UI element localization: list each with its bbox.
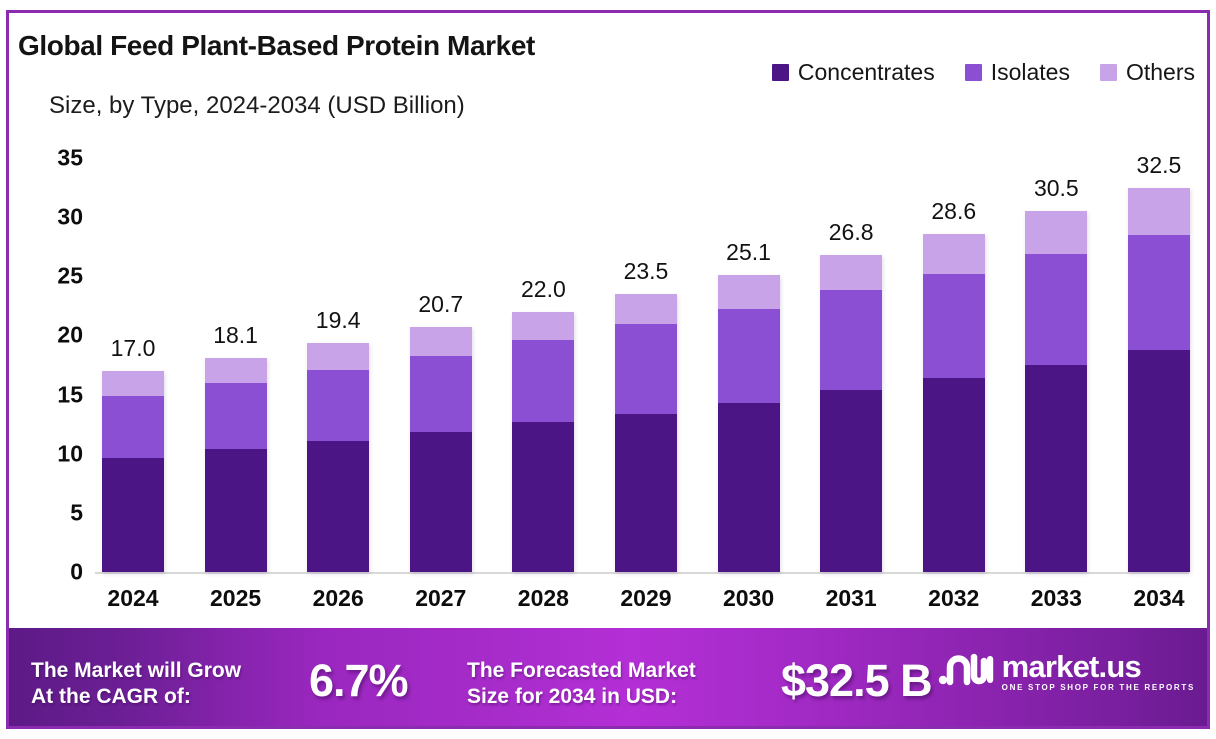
x-axis-label: 2028: [505, 585, 581, 612]
bar-column[interactable]: 30.5: [1018, 13, 1094, 613]
y-axis-tick-label: 35: [23, 145, 83, 172]
bar-column[interactable]: 20.7: [403, 13, 479, 613]
content-area: Global Feed Plant-Based Protein Market S…: [9, 13, 1207, 726]
stacked-bar[interactable]: [1128, 188, 1190, 572]
forecast-label-line1: The Forecasted Market: [467, 658, 696, 684]
y-axis-tick-label: 10: [23, 440, 83, 467]
bar-segment-concentrates[interactable]: [820, 390, 882, 572]
cagr-label-line1: The Market will Grow: [31, 658, 241, 684]
bar-segment-isolates[interactable]: [512, 340, 574, 422]
bar-column[interactable]: 28.6: [916, 13, 992, 613]
bar-total-label: 20.7: [386, 291, 496, 318]
bar-segment-isolates[interactable]: [307, 370, 369, 441]
bar-segment-others[interactable]: [410, 327, 472, 355]
x-axis-label: 2034: [1121, 585, 1197, 612]
bar-segment-isolates[interactable]: [718, 309, 780, 402]
x-axis-label: 2031: [813, 585, 889, 612]
stacked-bar[interactable]: [923, 234, 985, 572]
bar-column[interactable]: 22.0: [505, 13, 581, 613]
bar-total-label: 26.8: [796, 219, 906, 246]
bar-segment-isolates[interactable]: [923, 274, 985, 378]
infographic-page: Global Feed Plant-Based Protein Market S…: [0, 0, 1216, 739]
bar-segment-concentrates[interactable]: [410, 432, 472, 572]
bar-total-label: 32.5: [1104, 152, 1207, 179]
bar-series-group: 17.018.119.420.722.023.525.126.828.630.5…: [95, 13, 1197, 613]
bar-column[interactable]: 32.5: [1121, 13, 1197, 613]
logo-text: market.us ONE STOP SHOP FOR THE REPORTS: [1002, 651, 1195, 692]
y-axis-tick-label: 25: [23, 263, 83, 290]
bar-segment-others[interactable]: [307, 343, 369, 370]
forecast-label: The Forecasted Market Size for 2034 in U…: [467, 658, 696, 709]
bar-total-label: 23.5: [591, 258, 701, 285]
bar-segment-isolates[interactable]: [410, 356, 472, 433]
x-axis-label: 2033: [1018, 585, 1094, 612]
y-axis-tick-label: 30: [23, 204, 83, 231]
brand-logo[interactable]: market.us ONE STOP SHOP FOR THE REPORTS: [938, 649, 1195, 694]
stacked-bar[interactable]: [1025, 211, 1087, 572]
x-axis-label: 2025: [198, 585, 274, 612]
bar-segment-concentrates[interactable]: [923, 378, 985, 572]
bar-segment-concentrates[interactable]: [307, 441, 369, 572]
bar-segment-others[interactable]: [718, 275, 780, 309]
bar-segment-concentrates[interactable]: [512, 422, 574, 572]
bar-segment-others[interactable]: [102, 371, 164, 396]
bar-segment-others[interactable]: [615, 294, 677, 324]
chart-plot-area: 05101520253035 17.018.119.420.722.023.52…: [9, 13, 1207, 613]
x-axis-label: 2027: [403, 585, 479, 612]
bar-segment-concentrates[interactable]: [205, 449, 267, 572]
bar-column[interactable]: 23.5: [608, 13, 684, 613]
stacked-bar[interactable]: [205, 358, 267, 572]
bar-segment-concentrates[interactable]: [102, 458, 164, 572]
bar-segment-others[interactable]: [512, 312, 574, 340]
y-axis-tick-label: 0: [23, 559, 83, 586]
x-axis-label: 2024: [95, 585, 171, 612]
y-axis-tick-label: 20: [23, 322, 83, 349]
stacked-bar[interactable]: [410, 327, 472, 572]
bar-segment-others[interactable]: [820, 255, 882, 290]
bar-segment-others[interactable]: [1025, 211, 1087, 254]
stacked-bar[interactable]: [102, 371, 164, 572]
bar-segment-isolates[interactable]: [102, 396, 164, 459]
stacked-bar[interactable]: [615, 294, 677, 572]
bar-segment-concentrates[interactable]: [615, 414, 677, 573]
bar-total-label: 19.4: [283, 307, 393, 334]
x-axis-labels: 2024202520262027202820292030203120322033…: [95, 585, 1197, 612]
bar-segment-others[interactable]: [923, 234, 985, 274]
summary-banner: The Market will Grow At the CAGR of: 6.7…: [9, 628, 1207, 726]
bar-segment-concentrates[interactable]: [1128, 350, 1190, 572]
x-axis-label: 2026: [300, 585, 376, 612]
x-axis-label: 2032: [916, 585, 992, 612]
market-us-mark-icon: [938, 649, 994, 694]
bar-column[interactable]: 17.0: [95, 13, 171, 613]
bar-total-label: 18.1: [181, 322, 291, 349]
bar-column[interactable]: 25.1: [711, 13, 787, 613]
bar-total-label: 30.5: [1001, 175, 1111, 202]
forecast-value: $32.5 B: [781, 655, 932, 707]
bar-segment-others[interactable]: [1128, 188, 1190, 235]
y-axis-tick-label: 5: [23, 499, 83, 526]
bar-total-label: 17.0: [78, 335, 188, 362]
bar-column[interactable]: 18.1: [198, 13, 274, 613]
bar-segment-isolates[interactable]: [1128, 235, 1190, 350]
cagr-label: The Market will Grow At the CAGR of:: [31, 658, 241, 709]
cagr-label-line2: At the CAGR of:: [31, 684, 241, 710]
bar-segment-isolates[interactable]: [615, 324, 677, 414]
x-axis-label: 2030: [711, 585, 787, 612]
bar-segment-isolates[interactable]: [205, 383, 267, 449]
bar-total-label: 25.1: [694, 239, 804, 266]
bar-column[interactable]: 19.4: [300, 13, 376, 613]
stacked-bar[interactable]: [718, 275, 780, 572]
y-axis-tick-label: 15: [23, 381, 83, 408]
stacked-bar[interactable]: [307, 343, 369, 572]
bar-segment-concentrates[interactable]: [1025, 365, 1087, 572]
logo-tagline: ONE STOP SHOP FOR THE REPORTS: [1002, 684, 1195, 692]
cagr-value: 6.7%: [309, 655, 408, 707]
bar-column[interactable]: 26.8: [813, 13, 889, 613]
bar-total-label: 22.0: [488, 276, 598, 303]
bar-segment-concentrates[interactable]: [718, 403, 780, 572]
x-axis-label: 2029: [608, 585, 684, 612]
forecast-label-line2: Size for 2034 in USD:: [467, 684, 696, 710]
stacked-bar[interactable]: [820, 255, 882, 572]
stacked-bar[interactable]: [512, 312, 574, 572]
bar-segment-others[interactable]: [205, 358, 267, 383]
bar-segment-isolates[interactable]: [1025, 254, 1087, 365]
logo-name: market.us: [1002, 651, 1195, 682]
bar-segment-isolates[interactable]: [820, 290, 882, 389]
bar-total-label: 28.6: [899, 198, 1009, 225]
